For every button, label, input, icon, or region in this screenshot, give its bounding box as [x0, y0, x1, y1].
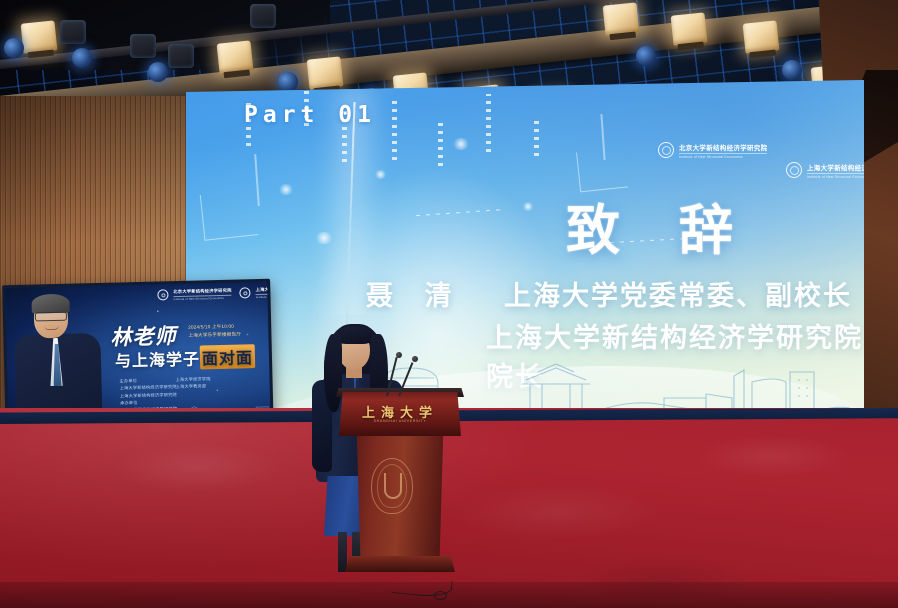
dot-column — [438, 120, 443, 166]
emblem-u-shape — [384, 473, 402, 499]
light-fixture — [168, 44, 194, 68]
microphone-head — [396, 352, 402, 358]
dot-column — [392, 98, 397, 160]
blue-wash-light — [148, 62, 168, 82]
microphone-cable-loop — [434, 591, 447, 600]
bokeh-particle — [278, 184, 294, 195]
conference-stage-photo: Part 01 北京大学新结构经济学研究院 Institute of New S… — [0, 0, 898, 608]
stage-light — [671, 12, 708, 45]
microphone-head — [412, 356, 418, 362]
logo-name-en: Institute of New Structural Economics, S… — [807, 173, 864, 179]
portrait-hair — [31, 294, 69, 314]
slide-part-label: Part 01 — [244, 102, 376, 128]
stage-light — [21, 20, 58, 53]
poster-title-highlight: 面对面 — [200, 344, 256, 369]
bokeh-particle — [374, 170, 387, 179]
podium-base — [345, 556, 455, 572]
logo-name-cn: 北京大学新结构经济学研究院 — [679, 142, 767, 152]
blue-wash-light — [4, 38, 24, 58]
main-led-screen[interactable]: Part 01 北京大学新结构经济学研究院 Institute of New S… — [186, 80, 864, 452]
seal-icon — [658, 142, 674, 158]
blue-wash-light — [782, 60, 802, 80]
stage-light — [743, 20, 780, 53]
blue-wash-light — [72, 48, 92, 68]
poster-title-prefix: 与上海学子 — [115, 351, 200, 370]
bokeh-particle — [522, 202, 534, 211]
glasses-icon — [35, 312, 67, 322]
poster-event-meta: 2024/5/10 上午10:00 上海大学乐乎新楼报告厅 — [188, 322, 241, 339]
slide-speaker-name: 聂 清 — [366, 274, 464, 313]
blue-wash-light — [278, 72, 298, 92]
seal-icon — [240, 287, 251, 298]
slide-role-line-1: 上海大学党委常委、副校长 — [504, 274, 852, 313]
dot-column — [534, 116, 539, 156]
light-fixture — [60, 20, 86, 44]
slide-title: 致 辞 — [566, 186, 755, 265]
bokeh-particle — [314, 232, 334, 244]
light-fixture — [130, 34, 156, 58]
stage-light — [307, 56, 344, 89]
shanghai-university-emblem-icon — [371, 458, 413, 514]
screen-logo-shu-nse: 上海大学新结构经济学研究院 Institute of New Structura… — [786, 162, 864, 179]
poster-title-line2: 与上海学子面对面 — [115, 344, 256, 371]
podium-sublabel: SHANGHAI UNIVERSITY — [339, 419, 461, 423]
seal-icon — [157, 289, 168, 300]
blue-wash-light — [636, 46, 656, 66]
axis-decoration — [200, 189, 259, 240]
light-fixture — [250, 4, 276, 28]
poster-logo-shu-nse: 上海大学新结构经济学研究院 Institute of New Structura… — [240, 286, 271, 299]
poster-logo-pku-nse: 北京大学新结构经济学研究院 Institute of New Structura… — [157, 288, 232, 301]
screen-logo-pku-nse: 北京大学新结构经济学研究院 Institute of New Structura… — [658, 142, 767, 159]
stage-light — [603, 2, 640, 35]
poster-meta-line-2: 上海大学乐乎新楼报告厅 — [188, 330, 241, 339]
poster-org-item: 上海大学教务部 — [176, 383, 211, 391]
bokeh-particle — [452, 138, 470, 150]
stage-light — [217, 40, 254, 73]
podium: 上海大学 SHANGHAI UNIVERSITY — [339, 392, 461, 572]
poster-org-column-2: 上海大学经济学院 上海大学教务部 — [175, 375, 210, 391]
dot-column — [486, 94, 491, 152]
logo-name-en: Institute of New Structural Economics — [679, 153, 767, 159]
seal-icon — [786, 162, 802, 178]
logo-name-cn: 上海大学新结构经济学研究院 — [807, 162, 864, 172]
